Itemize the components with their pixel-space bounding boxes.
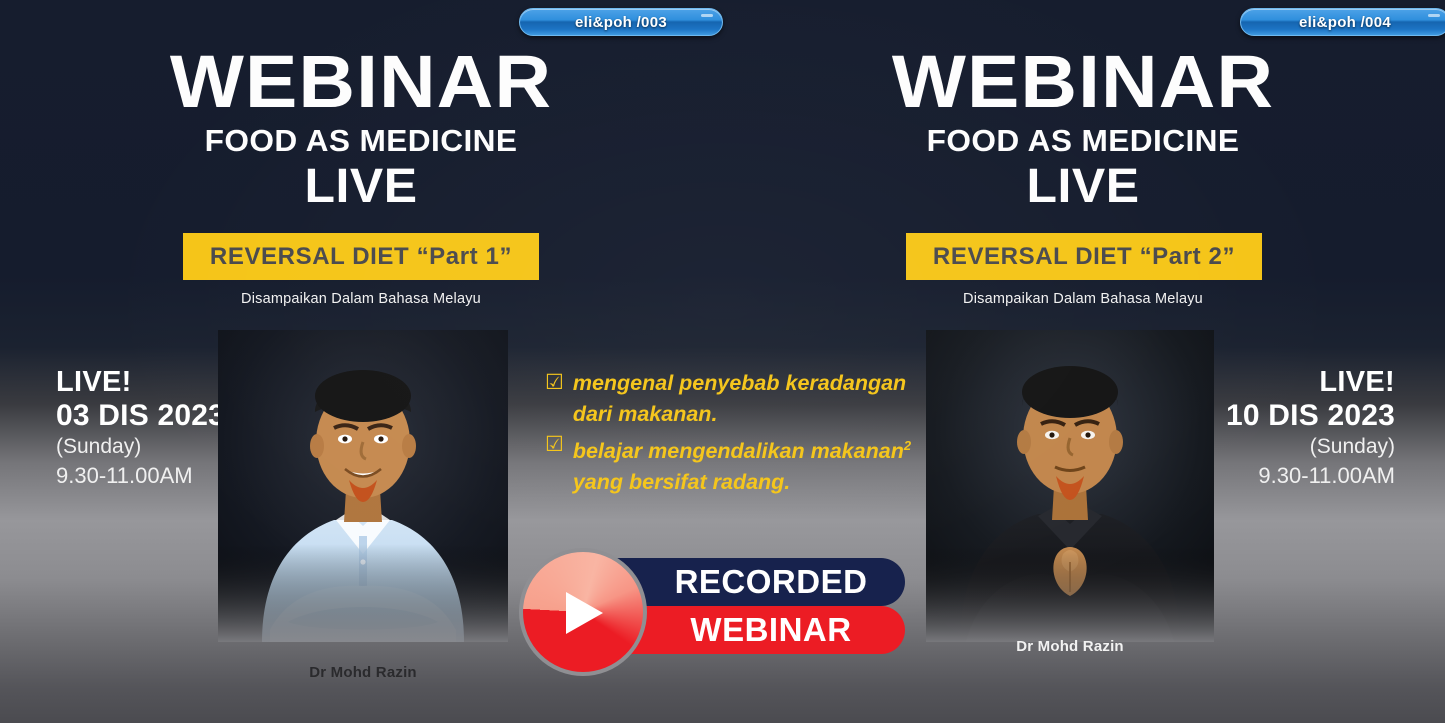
language-note: Disampaikan Dalam Bahasa Melayu (722, 291, 1444, 307)
page-subtitle: FOOD AS MEDICINE (715, 124, 1445, 157)
schedule-day: (Sunday) (56, 433, 225, 461)
schedule-live-label: LIVE! (56, 366, 225, 398)
speaker-name-part-2: Dr Mohd Razin (926, 638, 1214, 655)
list-item: ☑ mengenal penyebab keradangan dari maka… (545, 368, 925, 430)
checked-checkbox-icon: ☑ (545, 430, 564, 460)
badge-eli-poh-004[interactable]: eli&poh /004 (1240, 8, 1445, 36)
list-item-superscript: 2 (904, 438, 911, 453)
schedule-time: 9.30-11.00AM (1226, 461, 1395, 490)
live-word: LIVE (708, 160, 1445, 214)
recorded-webinar-badge[interactable]: RECORDED WEBINAR (519, 548, 909, 656)
list-item-line-2: dari makanan. (573, 402, 718, 426)
badge-eli-poh-003[interactable]: eli&poh /003 (519, 8, 723, 36)
list-item-text: belajar mengendalikan makanan2 yang bers… (573, 430, 911, 498)
schedule-day: (Sunday) (1226, 433, 1395, 461)
list-item-text: mengenal penyebab keradangan dari makana… (573, 368, 906, 430)
schedule-time: 9.30-11.00AM (56, 461, 225, 490)
speaker-portrait-black-shirt-icon (926, 330, 1214, 642)
page-title: WEBINAR (0, 45, 744, 119)
gloss-highlight-icon (1428, 14, 1440, 17)
topic-banner-label: REVERSAL DIET “Part 1” (210, 243, 512, 271)
schedule-date: 03 DIS 2023 (56, 398, 225, 433)
speaker-name-part-1: Dr Mohd Razin (218, 664, 508, 681)
benefits-list: ☑ mengenal penyebab keradangan dari maka… (545, 368, 925, 498)
promo-banner: eli&poh /003 eli&poh /004 WEBINAR FOOD A… (0, 0, 1445, 723)
recorded-label: RECORDED (675, 563, 868, 601)
language-note: Disampaikan Dalam Bahasa Melayu (0, 291, 722, 307)
webinar-label: WEBINAR (690, 611, 851, 649)
schedule-part-1: LIVE! 03 DIS 2023 (Sunday) 9.30-11.00AM (56, 366, 225, 490)
live-word: LIVE (0, 160, 736, 214)
topic-banner: REVERSAL DIET “Part 1” (183, 233, 539, 280)
speaker-photo-part-2 (926, 330, 1214, 642)
list-item-line-1: belajar mengendalikan makanan (573, 439, 904, 463)
list-item-line-1: mengenal penyebab keradangan (573, 371, 906, 395)
topic-banner: REVERSAL DIET “Part 2” (906, 233, 1262, 280)
page-subtitle: FOOD AS MEDICINE (0, 124, 729, 157)
badge-right-label: eli&poh /004 (1299, 14, 1391, 31)
schedule-live-label: LIVE! (1226, 366, 1395, 398)
badge-left-label: eli&poh /003 (575, 14, 667, 31)
page-title: WEBINAR (700, 45, 1445, 119)
checked-checkbox-icon: ☑ (545, 368, 564, 398)
speaker-photo-part-1 (218, 330, 508, 642)
gloss-highlight-icon (701, 14, 713, 17)
list-item-line-2: yang bersifat radang. (573, 470, 790, 494)
schedule-date: 10 DIS 2023 (1226, 398, 1395, 433)
topic-banner-label: REVERSAL DIET “Part 2” (933, 243, 1235, 271)
schedule-part-2: LIVE! 10 DIS 2023 (Sunday) 9.30-11.00AM (1226, 366, 1395, 490)
play-triangle-icon (566, 592, 603, 634)
list-item: ☑ belajar mengendalikan makanan2 yang be… (545, 430, 925, 498)
speaker-portrait-blue-shirt-icon (218, 330, 508, 642)
